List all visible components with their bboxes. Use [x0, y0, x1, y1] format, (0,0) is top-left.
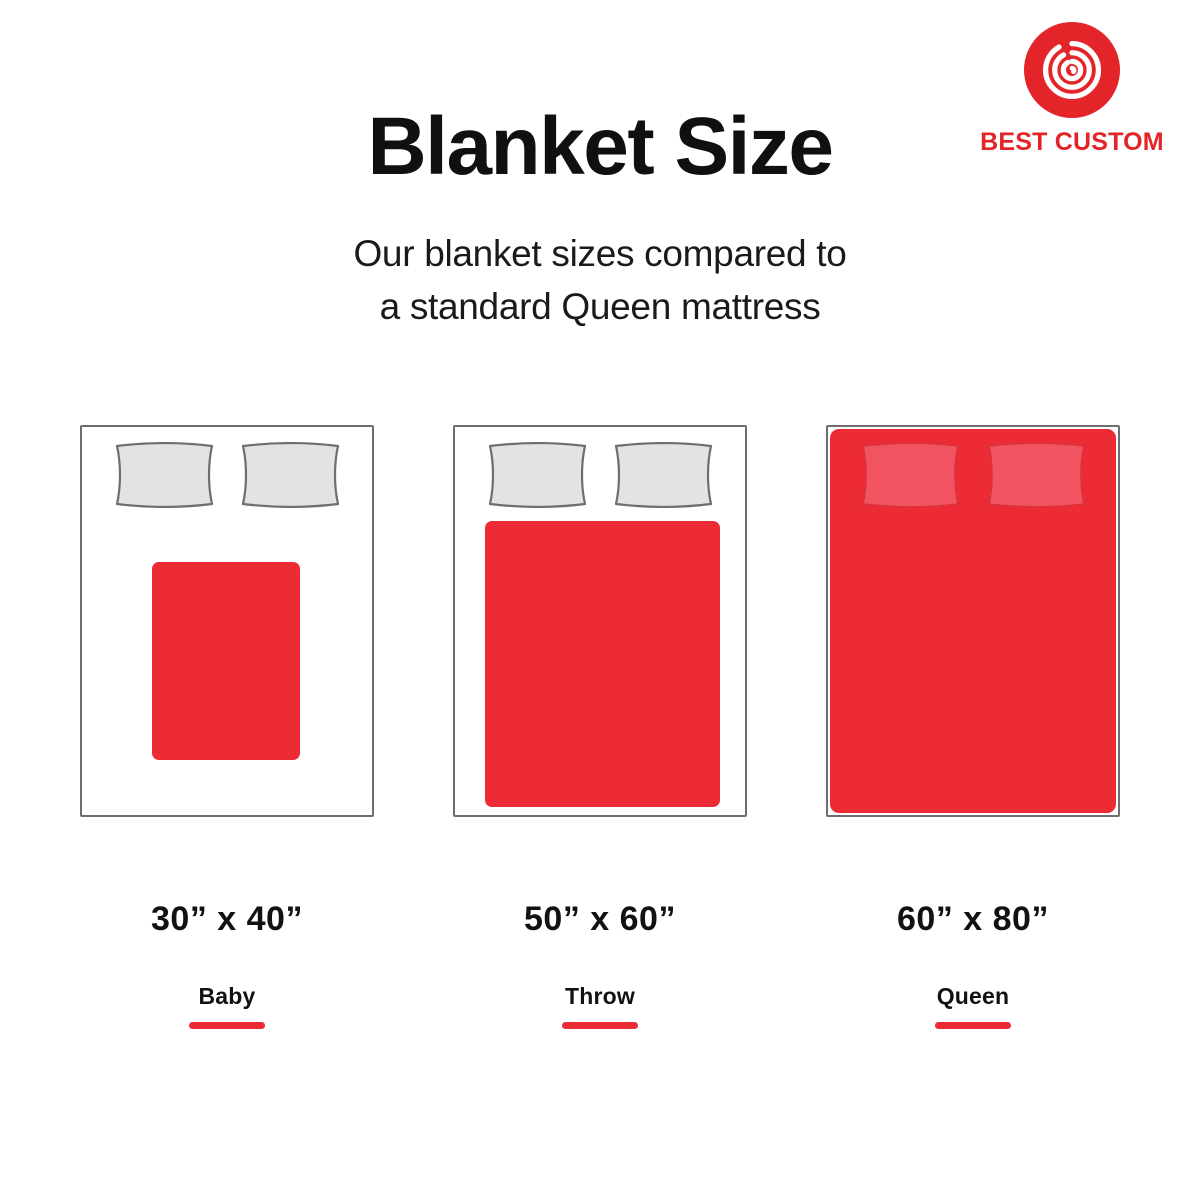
subtitle-line-1: Our blanket sizes compared to: [0, 228, 1200, 281]
bed-diagram-queen: [826, 425, 1120, 817]
pillow-right-icon: [238, 442, 343, 508]
dimensions-label: 60” x 80”: [793, 900, 1153, 939]
caption-queen: 60” x 80” Queen: [793, 900, 1153, 1029]
accent-underline: [189, 1022, 265, 1029]
pillow-left-icon: [858, 442, 963, 508]
bed-comparison-row: [0, 425, 1200, 817]
page-title: Blanket Size: [0, 104, 1200, 190]
blanket-throw: [485, 521, 720, 807]
bed-diagram-baby: [80, 425, 374, 817]
size-name-label: Queen: [793, 983, 1153, 1010]
dimensions-label: 50” x 60”: [420, 900, 780, 939]
pillow-left-icon: [112, 442, 217, 508]
page-subtitle: Our blanket sizes compared to a standard…: [0, 228, 1200, 333]
caption-row: 30” x 40” Baby 50” x 60” Throw 60” x 80”…: [0, 900, 1200, 1040]
size-name-label: Baby: [47, 983, 407, 1010]
dimensions-label: 30” x 40”: [47, 900, 407, 939]
size-name-label: Throw: [420, 983, 780, 1010]
accent-underline: [562, 1022, 638, 1029]
pillow-right-icon: [611, 442, 716, 508]
accent-underline: [935, 1022, 1011, 1029]
blanket-baby: [152, 562, 300, 760]
pillow-left-icon: [485, 442, 590, 508]
pillow-right-icon: [984, 442, 1089, 508]
caption-baby: 30” x 40” Baby: [47, 900, 407, 1029]
caption-throw: 50” x 60” Throw: [420, 900, 780, 1029]
bed-diagram-throw: [453, 425, 747, 817]
subtitle-line-2: a standard Queen mattress: [0, 281, 1200, 334]
infographic-canvas: BEST CUSTOM Blanket Size Our blanket siz…: [0, 0, 1200, 1200]
